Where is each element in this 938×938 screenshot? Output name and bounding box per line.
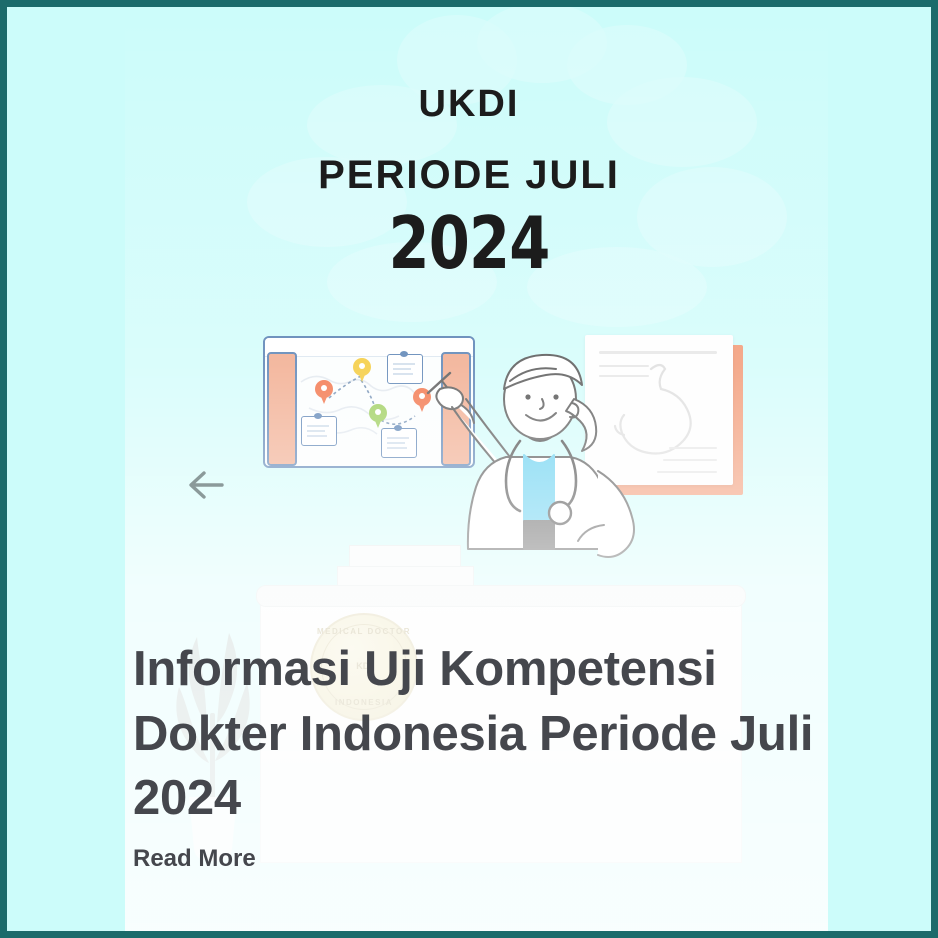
arrow-left-icon[interactable]: [182, 462, 230, 508]
prev-slide-button[interactable]: [182, 462, 230, 508]
banner-headline: UKDI PERIODE JULI 2024: [7, 85, 931, 279]
banner-line-year: 2024: [90, 207, 848, 279]
promo-card-frame: MEDICAL DOCTOR KDI INDONESIA UKDI PERIOD…: [0, 0, 938, 938]
banner-line-periode: PERIODE JULI: [7, 155, 931, 195]
post-text-block: Informasi Uji Kompetensi Dokter Indonesi…: [125, 637, 825, 873]
post-title: Informasi Uji Kompetensi Dokter Indonesi…: [125, 637, 833, 831]
read-more-link[interactable]: Read More: [133, 845, 256, 873]
banner-line-ukdi: UKDI: [7, 85, 931, 123]
